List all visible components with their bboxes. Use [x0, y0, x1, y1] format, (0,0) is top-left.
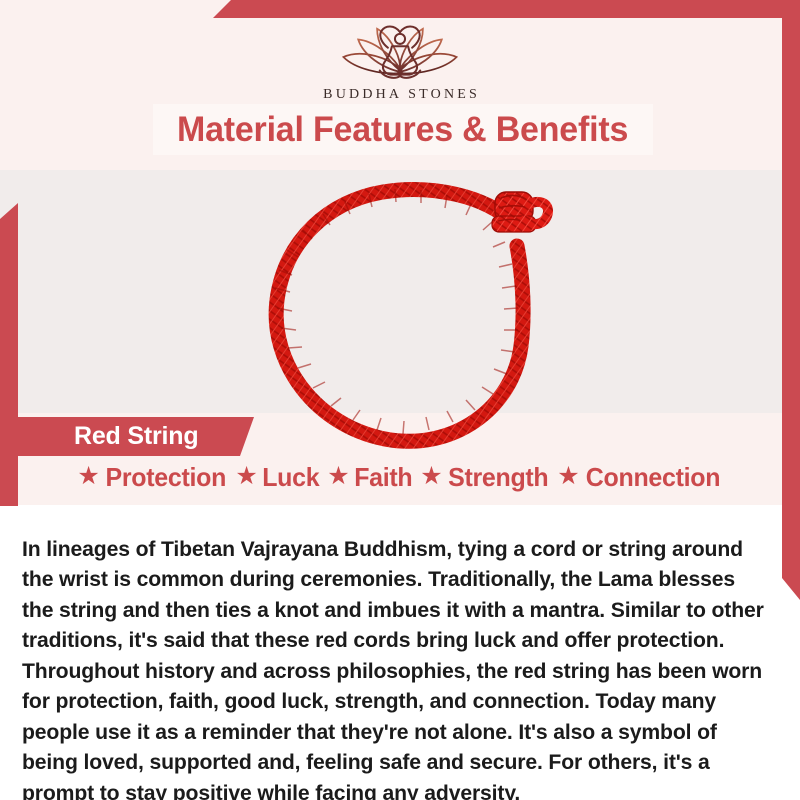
top-red-accent-bar — [213, 0, 800, 18]
lotus-meditation-icon — [332, 18, 468, 84]
star-icon: ★ — [327, 464, 349, 489]
left-red-accent-bar — [0, 203, 18, 506]
material-banner: Red String — [18, 417, 254, 456]
description-paragraph: In lineages of Tibetan Vajrayana Buddhis… — [22, 534, 771, 800]
benefit-item-strength: ★ Strength — [420, 462, 550, 493]
page-title-band: Material Features & Benefits — [153, 104, 653, 155]
benefit-label: Luck — [262, 462, 319, 493]
page-title: Material Features & Benefits — [177, 110, 628, 150]
star-icon: ★ — [420, 464, 442, 489]
benefit-label: Faith — [354, 462, 412, 493]
benefit-item-protection: ★ Protection — [77, 462, 228, 493]
benefit-item-faith: ★ Faith — [327, 462, 413, 493]
benefit-label: Connection — [585, 462, 719, 493]
red-braided-string-bracelet-icon — [255, 168, 575, 458]
benefit-label: Protection — [105, 462, 226, 493]
star-icon: ★ — [77, 464, 99, 489]
material-name: Red String — [74, 422, 198, 451]
benefit-item-luck: ★ Luck — [235, 462, 320, 493]
benefit-label: Strength — [448, 462, 548, 493]
star-icon: ★ — [557, 464, 579, 489]
benefits-list: ★ Protection ★ Luck ★ Faith ★ Strength ★… — [0, 462, 800, 493]
star-icon: ★ — [235, 464, 257, 489]
infographic-canvas: BUDDHA STONES Material Features & Benefi… — [0, 0, 800, 800]
product-image — [255, 168, 575, 458]
brand-name: BUDDHA STONES — [320, 87, 480, 103]
brand-logo: BUDDHA STONES — [0, 18, 800, 103]
benefit-item-connection: ★ Connection — [557, 462, 722, 493]
